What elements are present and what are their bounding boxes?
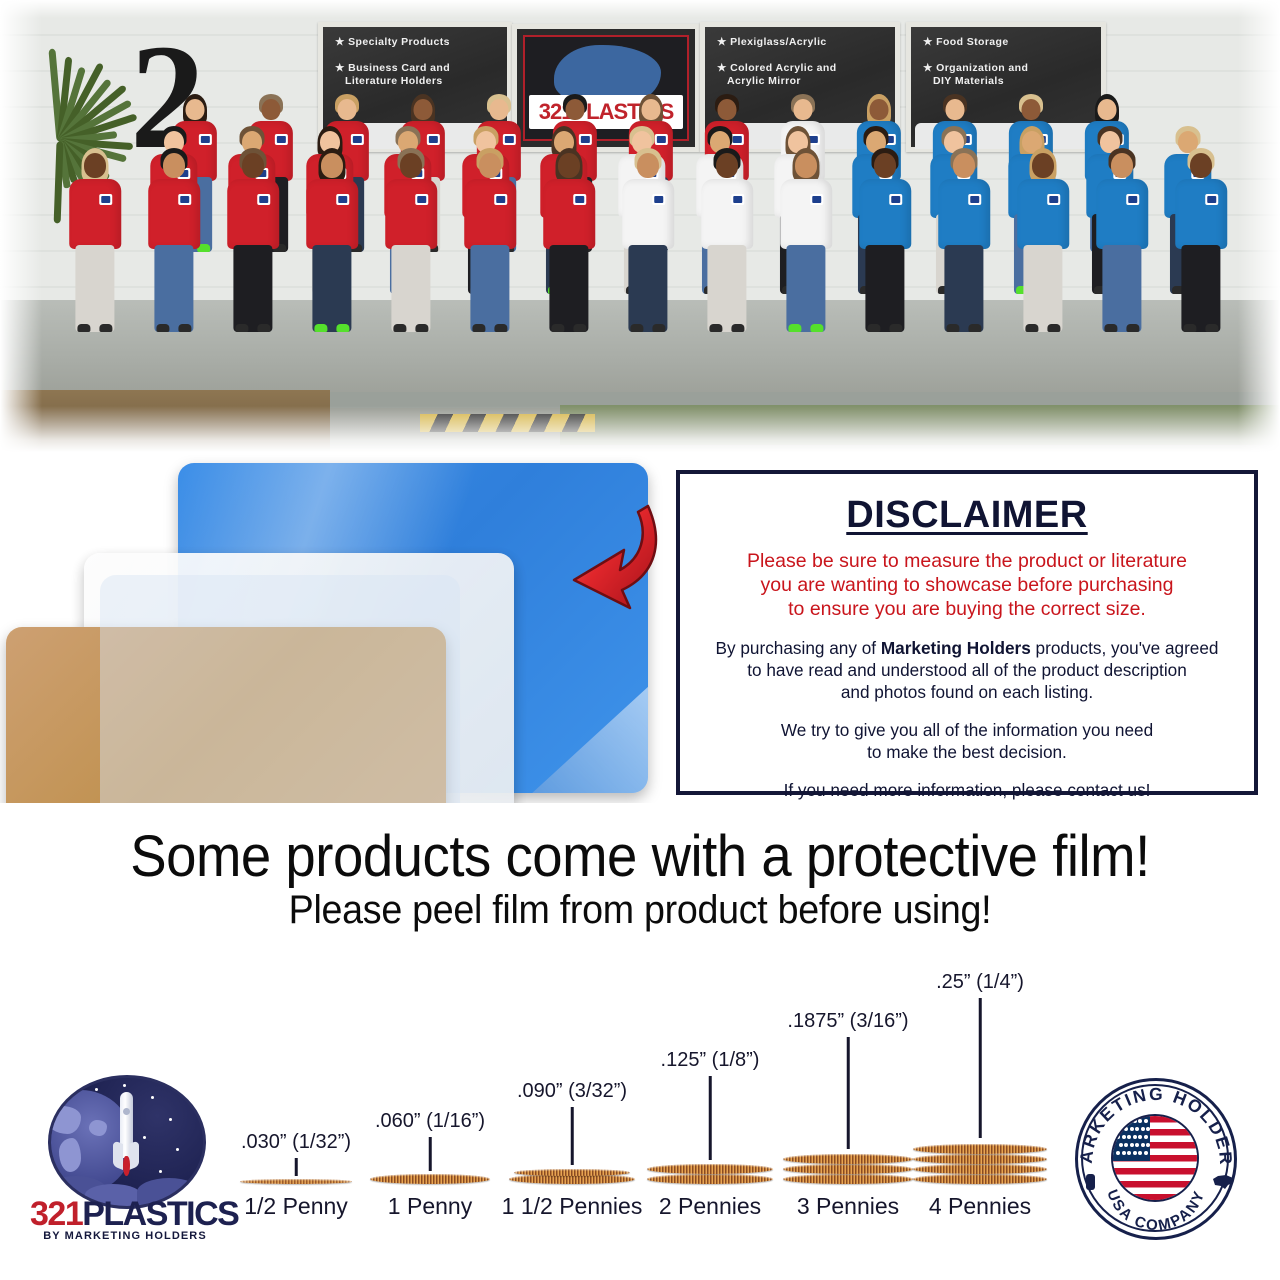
legs xyxy=(549,245,588,333)
head xyxy=(337,99,356,120)
shoe xyxy=(811,324,824,332)
para2-line: to have read and understood all of the p… xyxy=(747,660,1187,680)
head xyxy=(716,153,738,178)
shirt-logo xyxy=(336,194,349,205)
shoe xyxy=(472,324,485,332)
sign-line: Literature Holders xyxy=(345,75,497,88)
shoe xyxy=(946,324,959,332)
head xyxy=(1190,153,1212,178)
shirt xyxy=(938,179,990,249)
head xyxy=(1032,153,1054,178)
shoe xyxy=(969,324,982,332)
shirt-logo xyxy=(1205,194,1218,205)
shirt-logo xyxy=(415,194,428,205)
head xyxy=(945,99,964,120)
shoe xyxy=(653,324,666,332)
shirt-logo xyxy=(494,194,507,205)
para3-line: We try to give you all of the informatio… xyxy=(781,720,1153,740)
legs xyxy=(944,245,983,333)
head xyxy=(163,153,185,178)
shoe xyxy=(1127,324,1140,332)
head xyxy=(869,99,888,120)
disclaimer-red-text: Please be sure to measure the product or… xyxy=(702,549,1232,621)
grass xyxy=(560,405,1280,445)
rocket-mini-icon xyxy=(1086,1174,1095,1190)
sign-line: ★ Food Storage xyxy=(923,36,1091,49)
shoe xyxy=(156,324,169,332)
sign-line: ★ Specialty Products xyxy=(335,36,497,49)
disclaimer-red-line: you are wanting to showcase before purch… xyxy=(760,574,1173,596)
sign-line: ★ Business Card and xyxy=(335,62,497,75)
penny-stack xyxy=(913,1136,1047,1184)
shoe xyxy=(416,324,429,332)
disclaimer-red-line: to ensure you are buying the correct siz… xyxy=(788,598,1146,620)
head xyxy=(558,153,580,178)
caution-stripe xyxy=(420,414,595,432)
shirt xyxy=(385,179,437,249)
penny-measurement-label: .25” (1/4”) xyxy=(936,971,1024,994)
shoe xyxy=(1206,324,1219,332)
shoe xyxy=(337,324,350,332)
para2-post: products, you've agreed xyxy=(1031,638,1219,658)
shirt xyxy=(464,179,516,249)
shoe xyxy=(235,324,248,332)
legs xyxy=(312,245,351,333)
legs xyxy=(786,245,825,333)
shoe xyxy=(732,324,745,332)
para2-line: and photos found on each listing. xyxy=(841,682,1093,702)
logo-wordmark: 321PLASTICS BY MARKETING HOLDERS xyxy=(30,1195,220,1242)
usa-flag-icon xyxy=(1111,1114,1199,1202)
employee xyxy=(462,150,518,325)
head xyxy=(1021,99,1040,120)
penny-leader-line xyxy=(571,1107,574,1165)
legs xyxy=(470,245,509,333)
head xyxy=(242,153,264,178)
disclaimer-box: DISCLAIMER Please be sure to measure the… xyxy=(676,470,1258,795)
legs xyxy=(628,245,667,333)
penny-coin xyxy=(913,1164,1047,1174)
headline-sub: Please peel film from product before usi… xyxy=(38,888,1241,933)
shirt-logo xyxy=(652,194,665,205)
shoe xyxy=(709,324,722,332)
shirt xyxy=(859,179,911,249)
shoe xyxy=(1104,324,1117,332)
logo-321-number: 321 xyxy=(30,1195,82,1233)
penny-count-label: 4 Pennies xyxy=(929,1193,1031,1220)
penny-coin xyxy=(913,1174,1047,1184)
shoe xyxy=(179,324,192,332)
employee xyxy=(225,150,281,325)
employee xyxy=(1173,150,1229,325)
mulch-bed xyxy=(0,390,330,452)
penny-leader-line xyxy=(429,1137,432,1171)
employee xyxy=(146,150,202,325)
shirt-logo xyxy=(178,194,191,205)
penny-leader-line xyxy=(979,998,982,1138)
shoe xyxy=(100,324,113,332)
sign-line: DIY Materials xyxy=(933,75,1091,88)
shirt-logo xyxy=(199,134,212,145)
sign-line: Acrylic Mirror xyxy=(727,75,885,88)
shirt-logo xyxy=(968,194,981,205)
shirt-logo xyxy=(99,194,112,205)
legs xyxy=(707,245,746,333)
head xyxy=(717,99,736,120)
shirt xyxy=(701,179,753,249)
shirt xyxy=(227,179,279,249)
shoe xyxy=(258,324,271,332)
shirt xyxy=(69,179,121,249)
shirt-logo xyxy=(1047,194,1060,205)
employee xyxy=(857,150,913,325)
para2-pre: By purchasing any of xyxy=(716,638,881,658)
sign-line: ★ Colored Acrylic and xyxy=(717,62,885,75)
shirt xyxy=(543,179,595,249)
head xyxy=(874,153,896,178)
shoe xyxy=(788,324,801,332)
legs xyxy=(154,245,193,333)
head xyxy=(641,99,660,120)
shirt xyxy=(622,179,674,249)
rocket-icon xyxy=(113,1092,139,1178)
peel-arrow-icon xyxy=(560,498,670,618)
employee xyxy=(541,150,597,325)
logo-marketing-holders: MARKETING HOLDERS USA COMPANY xyxy=(1070,1078,1240,1238)
shoe xyxy=(77,324,90,332)
head xyxy=(479,153,501,178)
legs xyxy=(865,245,904,333)
shirt-logo xyxy=(573,194,586,205)
head xyxy=(185,99,204,120)
legs xyxy=(391,245,430,333)
shirt xyxy=(306,179,358,249)
film-sheet-clear-overlay: 321PLASTICS321PLASTICS321PLASTICS321PLAS… xyxy=(100,575,460,803)
penny-coin xyxy=(913,1154,1047,1164)
para2-bold: Marketing Holders xyxy=(881,638,1031,658)
shoe xyxy=(314,324,327,332)
legs xyxy=(233,245,272,333)
penny-leader-line xyxy=(847,1037,850,1149)
disclaimer-paragraph-4: If you need more information, please con… xyxy=(702,779,1232,801)
headline-main: Some products come with a protective fil… xyxy=(38,823,1241,890)
head xyxy=(565,99,584,120)
legs xyxy=(75,245,114,333)
shirt xyxy=(1096,179,1148,249)
shirt xyxy=(148,179,200,249)
shoe xyxy=(1025,324,1038,332)
head xyxy=(795,153,817,178)
head xyxy=(953,153,975,178)
head xyxy=(321,153,343,178)
penny-coin xyxy=(913,1144,1047,1154)
shoe xyxy=(551,324,564,332)
employee xyxy=(620,150,676,325)
head xyxy=(261,99,280,120)
shoe xyxy=(495,324,508,332)
shoe xyxy=(1183,324,1196,332)
employee xyxy=(67,150,123,325)
penny-leader-line xyxy=(709,1076,712,1160)
employee xyxy=(778,150,834,325)
shirt-logo xyxy=(889,194,902,205)
shirt-logo xyxy=(810,194,823,205)
logo-321-plastics: 321PLASTICS BY MARKETING HOLDERS xyxy=(30,1075,220,1243)
employee xyxy=(1015,150,1071,325)
disclaimer-red-line: Please be sure to measure the product or… xyxy=(747,550,1187,572)
shirt-logo xyxy=(257,194,270,205)
shirt-logo xyxy=(1126,194,1139,205)
usa-map-mini-icon xyxy=(1212,1174,1234,1190)
marketing-holders-product-infographic: 2 ★ Specialty Products ★ Business Card a… xyxy=(0,0,1280,1280)
head xyxy=(84,153,106,178)
employee xyxy=(304,150,360,325)
para3-line: to make the best decision. xyxy=(867,742,1067,762)
shirt-logo xyxy=(731,194,744,205)
head xyxy=(489,99,508,120)
head xyxy=(1097,99,1116,120)
shoe xyxy=(574,324,587,332)
shoe xyxy=(630,324,643,332)
disclaimer-title: DISCLAIMER xyxy=(702,494,1232,537)
shoe xyxy=(867,324,880,332)
shirt xyxy=(1017,179,1069,249)
disclaimer-paragraph-3: We try to give you all of the informatio… xyxy=(702,719,1232,763)
sign-line: ★ Plexiglass/Acrylic xyxy=(717,36,885,49)
disclaimer-paragraph-2: By purchasing any of Marketing Holders p… xyxy=(702,637,1232,703)
employee xyxy=(383,150,439,325)
shoe xyxy=(890,324,903,332)
head xyxy=(400,153,422,178)
penny-scale-item: .25” (1/4”)4 Pennies xyxy=(870,980,1090,1220)
shoe xyxy=(1048,324,1061,332)
logo-plastics-word: PLASTICS xyxy=(82,1195,238,1233)
shoe xyxy=(393,324,406,332)
legs xyxy=(1102,245,1141,333)
employee xyxy=(936,150,992,325)
head xyxy=(413,99,432,120)
head xyxy=(637,153,659,178)
legs xyxy=(1181,245,1220,333)
head xyxy=(1111,153,1133,178)
employee xyxy=(1094,150,1150,325)
sign-line: ★ Organization and xyxy=(923,62,1091,75)
employee xyxy=(699,150,755,325)
penny-count-label: 1 Penny xyxy=(388,1193,472,1220)
shirt xyxy=(1175,179,1227,249)
logo-tagline: BY MARKETING HOLDERS xyxy=(30,1230,220,1242)
logo-circle xyxy=(48,1075,206,1209)
shirt xyxy=(780,179,832,249)
head xyxy=(793,99,812,120)
legs xyxy=(1023,245,1062,333)
team-photo: 2 ★ Specialty Products ★ Business Card a… xyxy=(0,0,1280,452)
